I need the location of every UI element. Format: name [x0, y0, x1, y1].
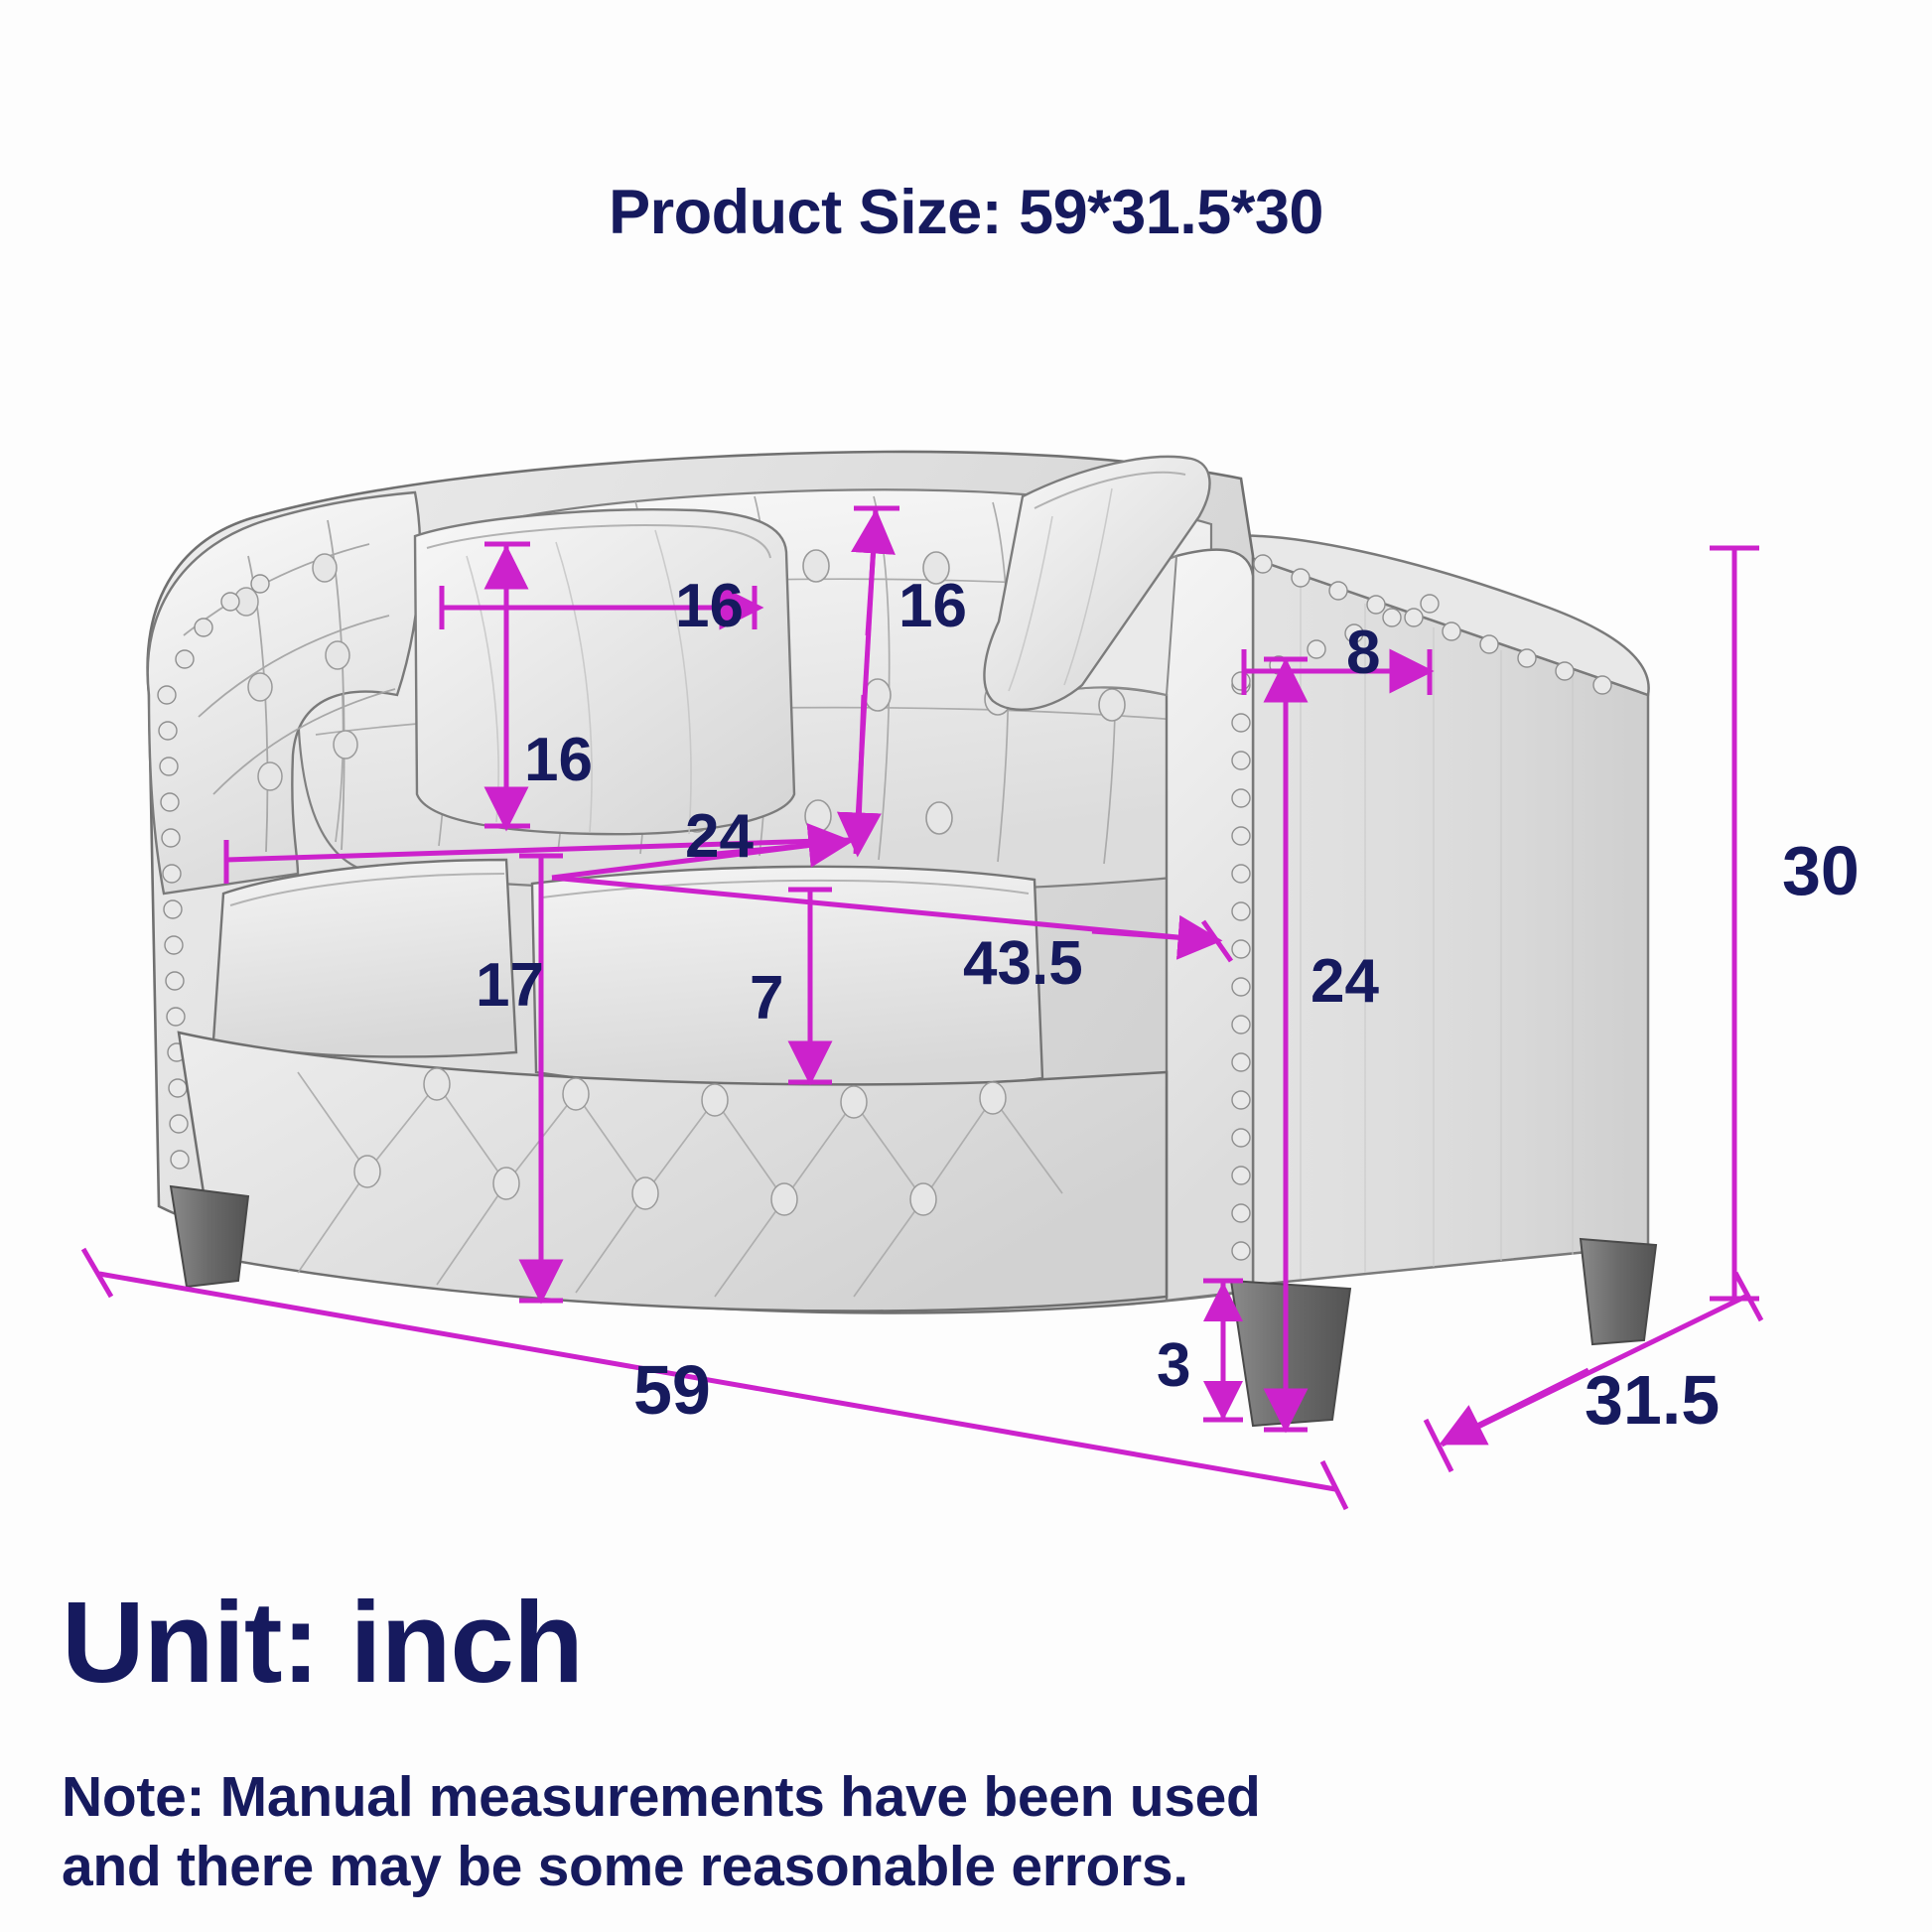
sofa-leg-back-right	[1581, 1239, 1656, 1344]
measurement-note-line-1: Note: Manual measurements have been used	[62, 1763, 1352, 1833]
sofa-leg-front-right	[1231, 1281, 1350, 1426]
dimension-label-leg-height: 3	[1157, 1335, 1190, 1397]
dimension-label-backrest-height: 16	[898, 576, 967, 637]
diagram-canvas: Product Size: 59*31.5*30 16 16 16 8 24 1…	[0, 0, 1932, 1932]
dimension-label-pillow-width: 16	[675, 576, 744, 637]
dimension-label-overall-depth: 31.5	[1585, 1365, 1720, 1435]
dimension-label-arm-height: 24	[1311, 951, 1379, 1013]
unit-label: Unit: inch	[62, 1585, 583, 1700]
dimension-label-arm-top-width: 8	[1346, 622, 1380, 684]
measurement-note: Note: Manual measurements have been used…	[62, 1763, 1352, 1901]
dimension-label-cushion-thickness: 7	[750, 968, 783, 1030]
dimension-label-pillow-height: 16	[524, 730, 593, 791]
dimension-label-seat-width: 43.5	[963, 933, 1083, 995]
seat-cushion-left	[213, 860, 516, 1056]
dimension-label-overall-width: 59	[633, 1355, 711, 1425]
dimension-label-seat-height: 17	[476, 955, 544, 1017]
dimension-label-overall-height: 30	[1782, 836, 1860, 905]
page-title: Product Size: 59*31.5*30	[0, 177, 1932, 248]
sofa-leg-front-left	[171, 1186, 248, 1287]
dimension-label-seat-depth: 24	[685, 806, 754, 868]
accent-pillow-left	[415, 509, 794, 834]
measurement-note-line-2: and there may be some reasonable errors.	[62, 1833, 1352, 1902]
